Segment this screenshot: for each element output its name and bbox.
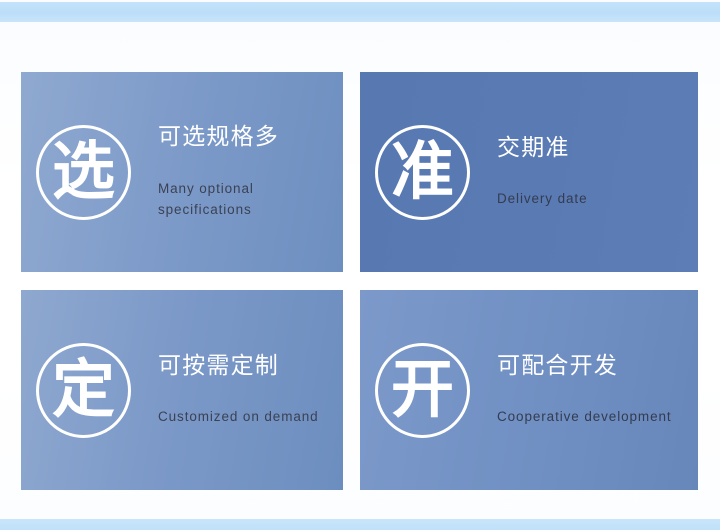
feature-card-cooperative-development[interactable]: 开 可配合开发 Cooperative development xyxy=(360,290,698,490)
bottom-accent-bar xyxy=(0,519,720,530)
circle-badge-icon: 开 xyxy=(375,343,470,438)
badge-character-ding-icon: 定 xyxy=(52,358,115,421)
feature-card-text: 可配合开发 Cooperative development xyxy=(470,352,698,429)
circle-badge-icon: 选 xyxy=(36,125,131,220)
feature-card-grid: 选 可选规格多 Many optional specifications 准 交… xyxy=(21,72,698,490)
feature-card-optional-specifications[interactable]: 选 可选规格多 Many optional specifications xyxy=(21,72,343,272)
feature-card-delivery-date[interactable]: 准 交期准 Delivery date xyxy=(360,72,698,272)
circle-badge-icon: 定 xyxy=(36,343,131,438)
feature-grid-page: 选 可选规格多 Many optional specifications 准 交… xyxy=(0,0,720,530)
feature-subtitle: Customized on demand xyxy=(158,407,333,428)
badge-character-xuan-icon: 选 xyxy=(52,140,115,203)
feature-card-customized-on-demand[interactable]: 定 可按需定制 Customized on demand xyxy=(21,290,343,490)
feature-card-text: 可按需定制 Customized on demand xyxy=(131,352,343,429)
feature-title: 交期准 xyxy=(497,134,688,163)
badge-character-zhun-icon: 准 xyxy=(391,140,454,203)
feature-title: 可选规格多 xyxy=(158,123,333,152)
badge-character-kai-icon: 开 xyxy=(391,358,454,421)
feature-card-text: 可选规格多 Many optional specifications xyxy=(131,123,343,221)
feature-subtitle: Many optional specifications xyxy=(158,179,333,221)
feature-subtitle: Cooperative development xyxy=(497,407,677,428)
feature-card-text: 交期准 Delivery date xyxy=(470,134,698,211)
feature-title: 可配合开发 xyxy=(497,352,688,381)
feature-subtitle: Delivery date xyxy=(497,189,677,210)
circle-badge-icon: 准 xyxy=(375,125,470,220)
feature-title: 可按需定制 xyxy=(158,352,333,381)
top-accent-bar xyxy=(0,2,720,22)
